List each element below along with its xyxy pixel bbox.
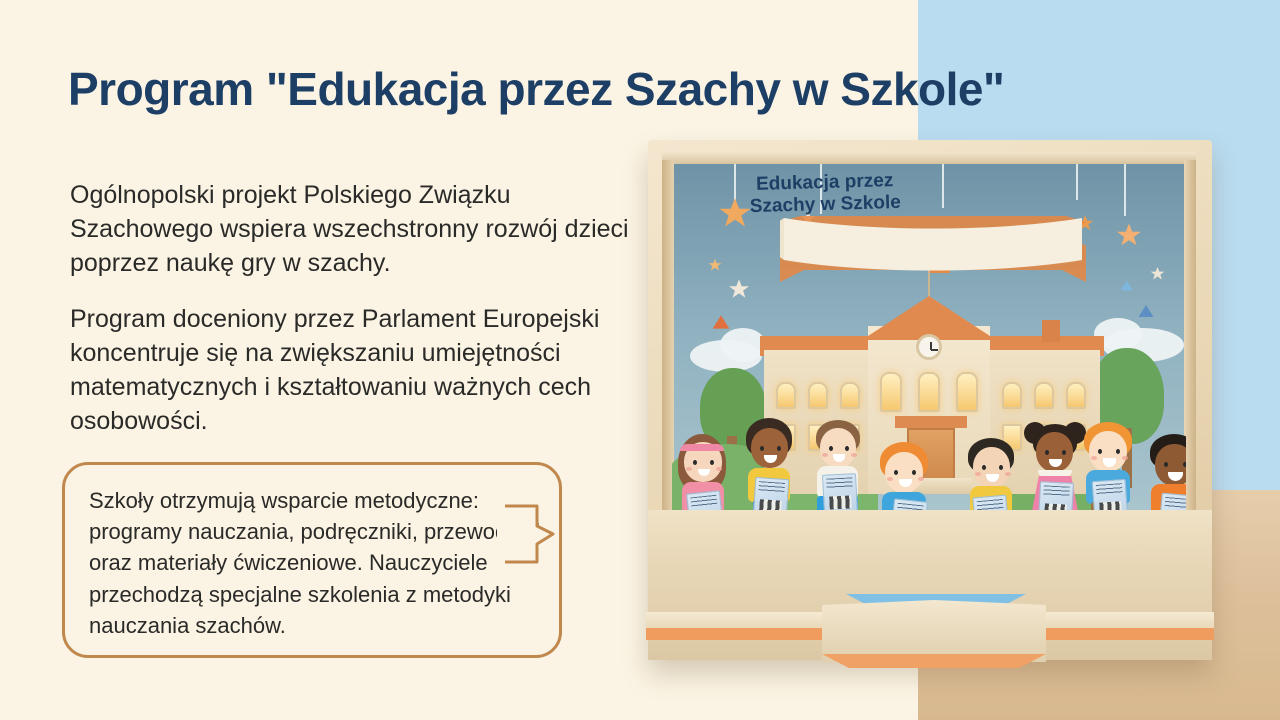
banner-text: Edukacja przez Szachy w Szkole [672,168,979,221]
window [880,372,902,412]
child-book [1092,479,1129,510]
child-eye [760,446,764,451]
child-head [820,428,856,468]
paragraph-2: Program doceniony przez Parlament Europe… [70,302,630,438]
book-checker-art [829,495,852,509]
child-eye [1116,449,1120,454]
triangle-confetti-icon [1118,278,1135,293]
child-eye [894,470,898,475]
child-eye [777,446,781,451]
triangle-confetti-icon [1136,302,1156,320]
callout-bubble-tail [497,500,557,566]
diorama-illustration: Edukacja przez Szachy w Szkole [648,140,1212,660]
body-copy: Ogólnopolski projekt Polskiego Związku S… [70,178,630,438]
child-figure [806,420,876,510]
window [918,372,940,412]
door-canopy [895,416,967,428]
star-icon [1150,266,1165,281]
book-checker-art [1044,503,1067,510]
child-figure [672,434,742,510]
child-cheek [1091,456,1097,460]
book-checker-art [1099,501,1122,510]
hanging-string [1076,162,1078,200]
star-icon [708,258,722,272]
child-eye [1062,450,1066,455]
child-cheek [975,472,981,476]
child-cheek [918,477,924,481]
child-figure [1074,422,1148,510]
callout-text: Szkoły otrzymują wsparcie metodyczne: pr… [89,485,541,641]
child-eye [1164,462,1168,467]
child-cheek [887,477,893,481]
triangle-confetti-icon [710,312,732,332]
book-title-lines [1164,497,1186,510]
hanging-string [1124,162,1126,216]
child-book [1038,481,1074,510]
book-title-lines [758,481,785,494]
child-eye [845,446,849,451]
book-title-lines [897,503,924,510]
child-book [686,490,724,510]
child-figure [870,442,944,510]
child-cheek [716,467,722,471]
child-cheek [822,453,828,457]
child-book [753,477,790,510]
page-title: Program "Edukacja przez Szachy w Szkole" [68,62,1188,116]
child-eye [999,465,1003,470]
callout-bubble: Szkoły otrzymują wsparcie metodyczne: pr… [62,462,562,658]
window [808,382,828,409]
child-eye [1045,450,1049,455]
child-eye [829,446,833,451]
child-figure [736,418,808,510]
window [1066,382,1086,409]
child-book [822,473,858,510]
book-title-lines [1043,485,1070,497]
book-title-lines [826,477,853,489]
window [1034,382,1054,409]
child-eye [912,470,916,475]
paragraph-1: Ogólnopolski projekt Polskiego Związku S… [70,178,630,280]
book-stack-front [822,600,1046,662]
window [1002,382,1022,409]
window [956,372,978,412]
child-eye [710,460,714,465]
book-title-lines [977,499,1004,510]
child-headband [680,444,724,451]
window [840,382,860,409]
child-eye [1098,449,1102,454]
star-icon [1116,222,1142,248]
frame-top-lip [662,152,1196,164]
child-eye [693,460,697,465]
star-icon [728,278,750,300]
child-cheek [686,467,692,471]
book-checker-art [759,499,782,510]
book-stack-front-cover [822,654,1046,668]
diorama-interior: Edukacja przez Szachy w Szkole [672,162,1186,510]
child-book [1158,493,1186,510]
window [776,382,796,409]
child-cheek [851,453,857,457]
book-stack [646,592,1214,666]
clock-icon [916,334,942,360]
child-eye [1183,462,1186,467]
book-title-lines [1096,483,1123,496]
child-figure [1140,434,1186,510]
chimney [1042,320,1060,342]
child-cheek [1005,472,1011,476]
child-cheek [1122,456,1128,460]
book-title-lines [690,495,717,509]
child-book [972,495,1009,510]
child-eye [982,465,986,470]
scene-banner [780,216,1086,290]
